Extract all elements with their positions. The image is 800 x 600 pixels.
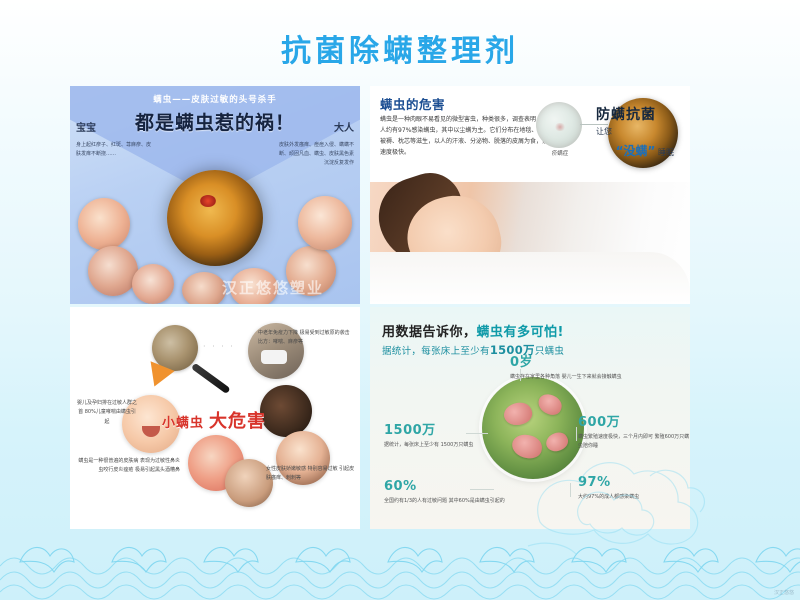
overlay-subtitle: 让您	[596, 126, 612, 137]
stat-60pct-number: 60%	[384, 479, 505, 494]
skin-photo-3	[132, 264, 174, 304]
bl-title-small: 小螨虫	[162, 416, 204, 431]
skin-condition-photo	[536, 102, 582, 148]
credit-text: 汉正悠悠	[774, 589, 794, 596]
br-sub-prefix: 据统计，每张床上至少有	[382, 346, 490, 357]
dots-decoration: · · · ·	[203, 342, 235, 351]
mite-shape-2	[535, 391, 564, 418]
br-headline: 用数据告诉你，螨虫有多可怕!	[382, 321, 564, 340]
bl-title-big: 大危害	[209, 411, 266, 432]
stat-age-number: 0岁	[510, 351, 622, 370]
stat-1500w-number: 1500万	[384, 419, 473, 438]
leader-line-600	[576, 427, 577, 441]
stat-1500w: 1500万 据统计，每张床上至少有 1500万只螨虫	[384, 419, 473, 450]
watermark-text: 汉正悠悠塑业	[222, 277, 324, 298]
pillow-shape	[370, 252, 690, 304]
skin-condition-label: 疥螨症	[530, 149, 590, 157]
stat-600w-desc: 螨虫繁殖速度极快，三个月内即可 繁殖600万只螨虫陪你睡	[578, 433, 690, 452]
tr-title: 螨虫的危害	[380, 94, 445, 113]
tl-adult-block: 大人 皮肤外发瘙痒、痘痘入侵、螨螨不断、顽固凡血、螨虫、皮肤黑色素沉淀反复发作	[276, 119, 354, 167]
skin-photo-2	[88, 246, 138, 296]
tl-adult-text: 皮肤外发瘙痒、痘痘入侵、螨螨不断、顽固凡血、螨虫、皮肤黑色素沉淀反复发作	[276, 141, 354, 167]
cloud-swirl-decoration	[510, 452, 800, 572]
bl-caption-2: 中老年免疫力下降 极易受到过敏原的袭击 比方：哮喘、麻疹等	[258, 329, 354, 348]
overlay-tail: 睡眠	[658, 148, 674, 157]
mite-shape-1	[501, 399, 534, 429]
stat-1500w-desc: 据统计，每张床上至少有 1500万只螨虫	[384, 441, 473, 450]
tl-baby-text: 身上起红疹子、红斑、荨麻疹、皮肤发痒不断挠……	[76, 141, 154, 159]
bl-caption-4: 女性皮肤娇嫩敏感 特别容易过敏 引起皮肤瘙痒、刺刺等	[266, 465, 358, 484]
panel-mite-allergy: 螨虫——皮肤过敏的头号杀手 都是螨虫惹的祸！ 宝宝 身上起红疹子、红斑、荨麻疹、…	[70, 86, 360, 304]
br-headline-plain: 用数据告诉你，	[382, 325, 477, 340]
panel-mite-danger: · · · · 婴儿及孕妇排在过敏人群之首 80%儿童哮喘由螨虫引起 中老年免疫…	[70, 307, 360, 529]
skin-photo-7	[298, 196, 352, 250]
overlay-slogan: “没螨” 睡眠	[616, 142, 674, 159]
page-title: 抗菌除螨整理剂	[0, 26, 800, 70]
tl-subtitle: 螨虫——皮肤过敏的头号杀手	[70, 93, 360, 105]
overlay-title: 防螨抗菌	[596, 104, 656, 124]
tl-adult-label: 大人	[276, 119, 354, 134]
tl-baby-block: 宝宝 身上起红疹子、红斑、荨麻疹、皮肤发痒不断挠……	[76, 119, 154, 159]
panel-mite-harm: 螨虫的危害 螨虫是一种肉眼不易看见的微型害虫，种类很多，调查表明，成年人约有97…	[370, 86, 690, 304]
br-headline-accent: 螨虫有多可怕!	[477, 325, 564, 340]
skin-photo-1	[78, 198, 130, 250]
magnifier-handle	[191, 363, 231, 395]
stat-60pct-desc: 全国约有1/3的人有过敏问题 其中60%是由螨虫引起的	[384, 497, 505, 506]
stat-age: 0岁 螨虫存在家里各种角落 婴儿一生下来就会接触螨虫	[510, 351, 622, 382]
bl-caption-3: 螨虫是一种很普遍的皮肤病 表现为过敏性鼻炎 虫咬行皮炎痤疮 极易引起黑头酒糟鼻	[76, 457, 180, 476]
sleeping-woman-photo	[370, 182, 690, 304]
stat-60pct: 60% 全国约有1/3的人有过敏问题 其中60%是由螨虫引起的	[384, 479, 505, 506]
stat-600w-number: 600万	[578, 411, 690, 430]
bl-title: 小螨虫 大危害	[162, 407, 266, 433]
stat-600w: 600万 螨虫繁殖速度极快，三个月内即可 繁殖600万只螨虫陪你睡	[578, 411, 690, 452]
connector-line	[580, 124, 608, 125]
tl-baby-label: 宝宝	[76, 119, 154, 134]
skin-photo-4	[182, 272, 226, 304]
bl-caption-1: 婴儿及孕妇排在过敏人群之首 80%儿童哮喘由螨虫引起	[76, 399, 138, 427]
overlay-quote: “没螨”	[616, 144, 656, 158]
dust-mite-photo	[167, 170, 263, 266]
stat-age-desc: 螨虫存在家里各种角落 婴儿一生下来就会接触螨虫	[510, 373, 622, 382]
sneezing-person-photo	[260, 385, 312, 437]
